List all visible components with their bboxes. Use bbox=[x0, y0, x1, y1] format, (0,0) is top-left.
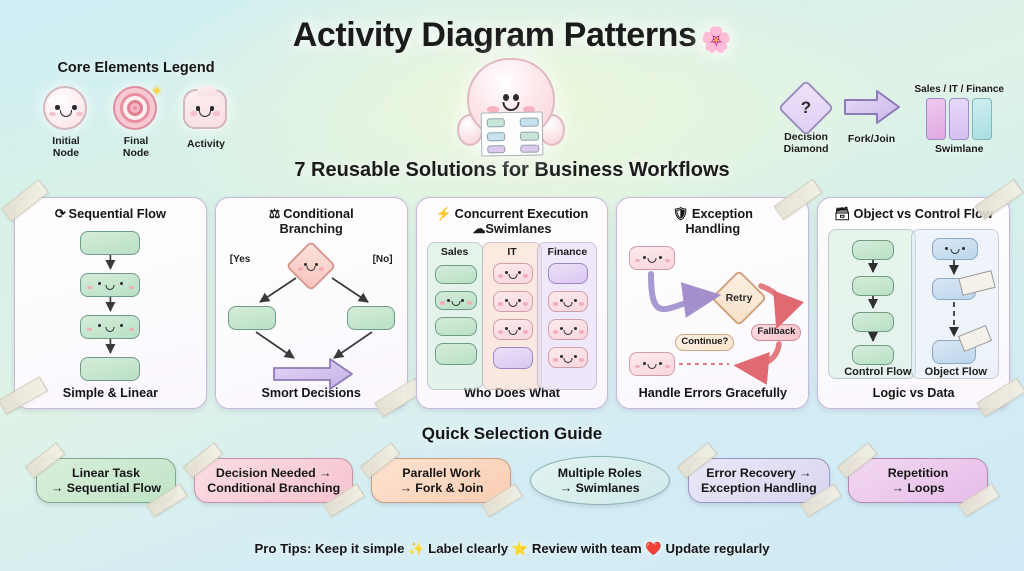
pill-multiple-roles[interactable]: Multiple Roles → Swimlanes bbox=[530, 456, 670, 506]
quick-selection-title: Quick Selection Guide bbox=[0, 424, 1024, 444]
card-diagram: Control Flow Object Flow bbox=[824, 225, 1003, 374]
pattern-cards: ⟳Sequential Flow bbox=[14, 197, 1010, 409]
card-diagram: Sales IT bbox=[423, 240, 602, 386]
balance-scale-icon: ⚖ bbox=[269, 206, 280, 221]
pill-line-2: Conditional Branching bbox=[207, 481, 340, 496]
legend-item-initial-node: Initial Node bbox=[39, 86, 93, 160]
card-title: ⚖Conditional bbox=[222, 206, 401, 221]
decision-diamond-icon: ? bbox=[778, 80, 835, 137]
card-subtitle: Branching bbox=[222, 221, 401, 236]
swimlane-finance: Finance bbox=[537, 242, 597, 390]
swimlane-sales: Sales bbox=[427, 242, 483, 390]
pill-line-2: → Sequential Flow bbox=[49, 481, 163, 496]
database-icon: 🗃 bbox=[834, 206, 850, 221]
activity-rounded-box-face-icon bbox=[183, 89, 229, 135]
swimlane-heading: Sales / IT / Finance bbox=[915, 84, 1004, 95]
flow-arrows bbox=[623, 240, 802, 386]
pill-linear-task[interactable]: Linear Task → Sequential Flow bbox=[36, 458, 176, 504]
card-exception-handling[interactable]: 🛡Exception Handling Retry Fallback Conti… bbox=[616, 197, 809, 409]
object-flow-panel bbox=[911, 229, 999, 379]
pill-line-1: Error Recovery → bbox=[701, 466, 817, 481]
card-diagram: Retry Fallback Continue? bbox=[623, 240, 802, 386]
card-footer: Simple & Linear bbox=[21, 386, 200, 402]
legend-item-label: Final Node bbox=[109, 136, 163, 160]
legend-item-label: Initial Node bbox=[39, 136, 93, 160]
page-title-text: Activity Diagram Patterns bbox=[293, 16, 697, 54]
card-footer: Handle Errors Gracefully bbox=[623, 386, 802, 402]
tape-decoration bbox=[976, 378, 1024, 418]
legend-item-activity: Activity bbox=[179, 86, 233, 160]
legend-fork-join-label: Fork/Join bbox=[841, 134, 903, 146]
pro-tips-footer: Pro Tips: Keep it simple ✨ Label clearly… bbox=[0, 541, 1024, 557]
lightning-bolt-icon: ⚡ bbox=[436, 206, 452, 221]
cloud-icon: ☁ bbox=[473, 221, 486, 236]
legend-swimlane-label: Swimlane bbox=[915, 144, 1004, 156]
pill-line-1: Decision Needed → bbox=[207, 466, 340, 481]
initial-node-circle-face-icon bbox=[43, 86, 89, 132]
card-subtitle: Handling bbox=[623, 221, 802, 236]
decision-question-glyph: ? bbox=[788, 90, 824, 126]
flow-arrows bbox=[21, 225, 200, 386]
swimlane-label: IT bbox=[483, 246, 541, 258]
swimlane-it: IT bbox=[482, 242, 542, 390]
card-object-vs-control-flow[interactable]: 🗃Object vs Control Flow bbox=[817, 197, 1010, 409]
object-flow-label: Object Flow bbox=[925, 366, 987, 378]
pill-error-recovery[interactable]: Error Recovery → Exception Handling bbox=[688, 458, 830, 504]
card-footer: Logic vs Data bbox=[824, 386, 1003, 402]
flow-arrows bbox=[222, 240, 401, 386]
control-flow-label: Control Flow bbox=[844, 366, 911, 378]
legend-title: Core Elements Legend bbox=[36, 60, 236, 76]
legend-swimlane: Sales / IT / Finance Swimlane bbox=[915, 84, 1004, 156]
card-title-text: Conditional bbox=[283, 206, 353, 221]
fork-join-arrow-icon bbox=[841, 84, 903, 130]
mascot-diagram-paper bbox=[481, 111, 544, 156]
pill-line-1: Multiple Roles bbox=[553, 466, 647, 481]
pill-line-1: Repetition bbox=[861, 466, 975, 481]
legend-decision-label: Decision Diamond bbox=[784, 132, 829, 156]
sparkle-icon: ✦ bbox=[150, 82, 163, 100]
card-diagram bbox=[21, 225, 200, 386]
pill-line-2: → Swimlanes bbox=[553, 481, 647, 496]
card-title: ⟳Sequential Flow bbox=[21, 206, 200, 221]
mascot-character-icon bbox=[455, 58, 567, 156]
pill-line-2: → Fork & Join bbox=[384, 481, 498, 496]
page-title: Activity Diagram Patterns🌸 bbox=[0, 16, 1024, 55]
card-title-text: Concurrent Execution bbox=[455, 206, 589, 221]
page-subtitle: 7 Reusable Solutions for Business Workfl… bbox=[0, 159, 1024, 182]
card-conditional-branching[interactable]: ⚖Conditional Branching [Yes [No] bbox=[215, 197, 408, 409]
card-title-text: Exception bbox=[692, 206, 753, 221]
legend-fork-join: Fork/Join bbox=[841, 84, 903, 146]
pill-parallel-work[interactable]: Parallel Work → Fork & Join bbox=[371, 458, 511, 504]
notation-legend: ? Decision Diamond Fork/Join Sales / IT … bbox=[784, 84, 1004, 156]
card-title-text: Object vs Control Flow bbox=[854, 206, 993, 221]
swimlane-icon bbox=[915, 98, 1004, 140]
pill-line-1: Linear Task bbox=[49, 466, 163, 481]
card-title-text: Sequential Flow bbox=[69, 206, 166, 221]
pill-repetition[interactable]: Repetition → Loops bbox=[848, 458, 988, 504]
cherry-blossom-icon: 🌸 bbox=[701, 26, 732, 54]
control-flow-panel bbox=[828, 229, 916, 379]
legend-items: Initial Node ✦ Final Node bbox=[36, 86, 236, 160]
pill-line-2: Exception Handling bbox=[701, 481, 817, 496]
card-subtitle-text: Swimlanes bbox=[485, 221, 551, 236]
legend-item-label: Activity bbox=[179, 139, 233, 151]
pill-line-1: Parallel Work bbox=[384, 466, 498, 481]
shield-icon: 🛡 bbox=[673, 206, 689, 221]
card-diagram: [Yes [No] bbox=[222, 240, 401, 386]
card-title: ⚡Concurrent Execution bbox=[423, 206, 602, 221]
card-sequential-flow[interactable]: ⟳Sequential Flow bbox=[14, 197, 207, 409]
legend-decision-diamond: ? Decision Diamond bbox=[784, 84, 829, 156]
cyclone-icon: ⟳ bbox=[55, 206, 66, 221]
quick-selection-pills: Linear Task → Sequential Flow Decision N… bbox=[36, 453, 988, 508]
card-concurrent-execution[interactable]: ⚡Concurrent Execution ☁Swimlanes Sales I… bbox=[416, 197, 609, 409]
pill-line-2: → Loops bbox=[861, 481, 975, 496]
card-subtitle: ☁Swimlanes bbox=[423, 221, 602, 236]
card-footer: Smort Decisions bbox=[222, 386, 401, 402]
swimlane-label: Finance bbox=[538, 246, 596, 258]
pill-decision-needed[interactable]: Decision Needed → Conditional Branching bbox=[194, 458, 353, 504]
legend-item-final-node: ✦ Final Node bbox=[109, 86, 163, 160]
final-node-target-icon: ✦ bbox=[113, 86, 159, 132]
infographic-canvas: Activity Diagram Patterns🌸 7 Reusable So… bbox=[0, 0, 1024, 571]
swimlane-label: Sales bbox=[428, 246, 482, 258]
core-elements-legend: Core Elements Legend Initial Node bbox=[36, 60, 236, 160]
